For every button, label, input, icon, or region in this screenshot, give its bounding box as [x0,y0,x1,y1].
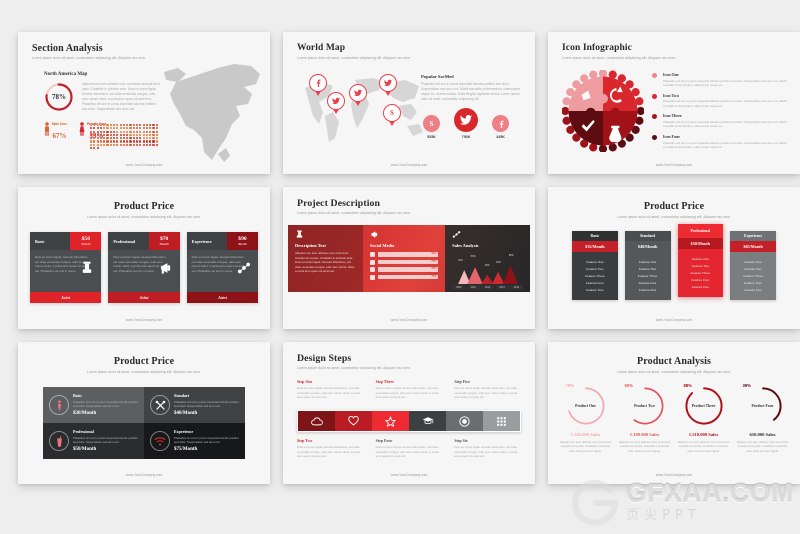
feature-list: Feature One Feature Two Feature Three Fe… [572,252,618,300]
slide-design-steps[interactable]: Design Steps Lorem ipsum dolor sit amet,… [283,342,535,484]
social-badge-skype[interactable]: S 525K [423,115,440,139]
matrix-dot [97,137,99,139]
twitter-icon [460,115,472,125]
legend-label: Icon One [663,72,788,77]
matrix-dot [120,137,122,139]
progress-ring: Product Three 88% [682,384,726,428]
matrix-dot [97,127,99,129]
matrix-dot [136,124,138,126]
slide-footer: www.YourCompany.com [18,163,270,167]
facebook-icon [497,120,505,128]
product-label: Product One [564,384,608,428]
matrix-dot [136,134,138,136]
plan-name: Basic [572,231,618,241]
plan-icon-ring [49,431,69,451]
project-banner: Description Text Aliquam nec sem ultrici… [288,225,530,292]
slide-product-price-quad[interactable]: Product Price Lorem ipsum dolor sit amet… [18,342,270,484]
product-percent: 60% [625,383,633,388]
person-icon [44,122,50,136]
matrix-dot [129,134,131,136]
legend-label: Icon Three [663,113,788,118]
slide-world-map[interactable]: World Map Lorem ipsum dolor sit amet, co… [283,32,535,174]
chart-x-axis: 2010 2011 2012 2013 2014 [452,285,523,290]
matrix-dot [139,144,141,146]
matrix-dot [90,131,92,133]
pane-heading: Social Media [370,243,438,248]
x-tick: 2014 [510,285,523,290]
step-text: Duis eu lorem ligula. Aenean bibendum, e… [376,445,443,459]
plan-name: Experience [730,231,776,241]
matrix-dot [97,140,99,142]
plan-period: /Month [238,242,247,246]
matrix-dot [152,144,154,146]
slide-footer: www.YourCompany.com [283,163,535,167]
step-label: Step Five [454,380,521,384]
strip-cell-grid[interactable] [483,411,520,431]
matrix-dot [136,137,138,139]
pricing-card-professional[interactable]: Professional $70 /Month Duis eu lorem li… [108,232,179,303]
matrix-dot [110,144,112,146]
matrix-dot [129,131,131,133]
strip-cell-graduation[interactable] [409,411,446,431]
plan-name: Professional [108,232,148,250]
drink-icon [55,436,64,447]
matrix-dot [123,140,125,142]
step-text: Duis eu lorem ligula. Aenean bibendum, e… [454,445,521,459]
social-badge-twitter[interactable]: 790K [454,108,478,139]
card-header: Basic $50 /Month [30,232,101,250]
matrix-dot [152,140,154,142]
slide-footer: www.YourCompany.com [283,473,535,477]
matrix-dot [113,140,115,142]
card-header: Professional $70 /Month [108,232,179,250]
strip-cell-cloud[interactable] [298,411,335,431]
pane-description[interactable]: Description Text Aliquam nec sem ultrici… [288,225,363,292]
matrix-dot [106,127,108,129]
skype-icon: S [390,109,394,117]
legend-text: Phasellus vel orci in purus imperdiet lo… [663,79,788,88]
matrix-dot [113,144,115,146]
plan-name: Professional [678,224,724,238]
step-six[interactable]: Step Six Duis eu lorem ligula. Aenean bi… [454,439,521,459]
product-sales: 1.510.000 Sales [677,432,730,437]
slide-footer: www.YourCompany.com [548,163,800,167]
pricing-card-experience[interactable]: Experience $90 /Month Duis eu lorem ligu… [187,232,258,303]
matrix-dot [116,124,118,126]
twitter-icon [370,260,375,265]
steps-bottom-row: Step Two Duis eu lorem ligula. Aenean bi… [297,439,521,459]
feature-list: Feature One Feature Two Feature Three Fe… [678,249,724,297]
matrix-dot [93,144,95,146]
male-user-value: 67% [52,132,67,140]
slide-product-price-cards[interactable]: Product Price Lorem ipsum dolor sit amet… [18,187,270,329]
matrix-dot [156,124,158,126]
x-tick: 2010 [452,285,465,290]
product-label: Product Four [741,384,785,428]
feature-item: Feature Two [730,265,776,272]
matrix-dot [103,140,105,142]
matrix-dot [156,137,158,139]
matrix-dot [93,134,95,136]
product-three-column[interactable]: Product Three 88% 1.510.000 Sales Aliqua… [674,384,733,453]
plan-description: Phasellus vel orci in purus imperdiet lo… [73,400,138,408]
strip-cell-circle[interactable] [446,411,483,431]
legend-text: Phasellus vel orci in purus imperdiet lo… [663,99,788,108]
matrix-dot [146,127,148,129]
bar-row: 47% [370,275,438,280]
matrix-dot [149,137,151,139]
legend-text: Phasellus vel orci in purus imperdiet lo… [663,141,788,150]
bar-row: 85% [370,267,438,272]
matrix-dot [123,144,125,146]
plan-price-block: $90 /Month [227,232,258,250]
pricing-quadrants: Basic Phasellus vel orci in purus imperd… [43,387,245,459]
product-label: Product Three [682,384,726,428]
pricing-quad-experience[interactable]: Experience Phasellus vel orci in purus i… [144,423,245,459]
slide-project-description[interactable]: Project Description Lorem ipsum dolor si… [283,187,535,329]
twitter-icon [354,89,362,97]
join-button[interactable]: Joint [108,292,179,303]
matrix-dot [113,137,115,139]
matrix-dot [136,140,138,142]
matrix-dot [90,124,92,126]
pricing-column-basic[interactable]: Basic $35/Month Feature One Feature Two … [572,231,618,300]
map-pin-twitter[interactable] [327,92,345,114]
matrix-dot [110,131,112,133]
step-two[interactable]: Step Two Duis eu lorem ligula. Aenean bi… [297,439,364,459]
list-item[interactable]: Icon Four Phasellus vel orci in purus im… [652,134,788,149]
matrix-dot [146,137,148,139]
plan-price: $75/Month [174,447,239,452]
matrix-dot [129,124,131,126]
legend-label: Icon Two [663,93,788,98]
matrix-dot [106,137,108,139]
plan-name: Experience [174,429,239,434]
matrix-dot [139,137,141,139]
slide-title: Project Description [297,198,380,209]
matrix-dot [146,140,148,142]
feature-item: Feature Four [572,280,618,287]
plan-name: Experience [187,232,227,250]
matrix-dot [139,140,141,142]
pricing-quad-basic[interactable]: Basic Phasellus vel orci in purus imperd… [43,387,144,423]
twitter-icon [384,79,392,87]
slide-subtitle: Lorem ipsum dolor sit amet, consectetur … [548,215,800,219]
north-america-map-icon [156,54,268,166]
pane-heading: Description Text [295,243,356,248]
matrix-dot [116,131,118,133]
map-pin-twitter[interactable] [379,74,397,96]
matrix-dot [156,140,158,142]
plan-price: $35/Month [572,241,618,252]
product-percent: 39% [743,383,751,388]
slide-subtitle: Lorem ipsum dolor sit amet, consectetur … [297,366,411,370]
pane-heading: Sales Analysis [452,243,523,248]
feature-item: Feature Five [625,287,671,294]
section-body-text: Aliquam nec sem ultricies nunc commodo s… [82,82,160,112]
plan-period: /Month [81,242,90,246]
step-five[interactable]: Step Five Duis eu lorem ligula. Aenean b… [454,380,521,400]
matrix-dot [136,127,138,129]
progress-ring: Product One 70% [564,384,608,428]
watermark-tagline: 页尖PPT [626,509,794,522]
step-text: Duis eu lorem ligula. Aenean bibendum, e… [297,445,364,459]
chart-label: 80% [471,255,476,258]
step-text: Duis eu lorem ligula. Aenean bibendum, e… [297,386,364,400]
matrix-dot [126,131,128,133]
matrix-dot [106,134,108,136]
matrix-dot [103,124,105,126]
feature-item: Feature Five [678,284,724,291]
product-two-column[interactable]: Product Two 60% 1.109.000 Sales Aliquam … [615,384,674,453]
chart-label: 60% [496,261,501,264]
list-item[interactable]: Icon One Phasellus vel orci in purus imp… [652,72,788,87]
matrix-dot [123,137,125,139]
matrix-dot [133,127,135,129]
male-user-label: Male User [52,122,67,126]
star-icon [385,416,396,427]
pricing-card-basic[interactable]: Basic $50 /Month Duis eu lorem ligula. A… [30,232,101,303]
step-three[interactable]: Step Three Duis eu lorem ligula. Aenean … [376,380,443,400]
list-item[interactable]: Icon Two Phasellus vel orci in purus imp… [652,93,788,108]
slide-footer: www.YourCompany.com [548,473,800,477]
legend-dot-icon [652,135,657,140]
matrix-dot [152,134,154,136]
matrix-dot [146,124,148,126]
plan-description: Phasellus vel orci in purus imperdiet lo… [73,436,138,444]
plan-price: $65/Month [730,241,776,252]
matrix-dot [93,137,95,139]
social-badge-facebook[interactable]: 345K [492,115,509,139]
brush-icon [80,261,94,275]
card-body: Duis eu lorem ligula. Aenean bibendum, e… [187,250,258,292]
matrix-dot [100,127,102,129]
matrix-dot [149,144,151,146]
card-body: Duis eu lorem ligula. Aenean bibendum, e… [30,250,101,292]
matrix-dot [152,124,154,126]
matrix-dot [152,127,154,129]
slide-footer: www.YourCompany.com [548,318,800,322]
matrix-dot [120,131,122,133]
graduation-icon [422,416,434,426]
feature-item: Feature One [572,258,618,265]
feature-item: Feature Three [572,272,618,279]
plan-icon-ring [150,431,170,451]
product-sales: 1.345.000 Sales [559,432,612,437]
plan-name: Basic [73,393,138,398]
slide-title: Product Price [548,201,800,212]
slide-icon-infographic[interactable]: Icon Infographic Lorem ipsum dolor sit a… [548,32,800,174]
matrix-dot [100,144,102,146]
facebook-icon [370,267,375,272]
facebook-icon [314,79,322,87]
matrix-dot [133,131,135,133]
product-four-column[interactable]: Product Four 39% 650.000 Sales Aliquam n… [733,384,792,453]
matrix-dot [143,127,145,129]
matrix-dot [133,140,135,142]
steps-top-row: Step One Duis eu lorem ligula. Aenean bi… [297,380,521,400]
grid-icon [496,416,507,427]
legend-text: Phasellus vel orci in purus imperdiet lo… [663,120,788,129]
pane-social-media[interactable]: Social Media 90% 67% 85% [363,225,445,292]
product-description: Aliquam nec sem ultricies nunc commodo s… [736,440,789,453]
matrix-dot [116,137,118,139]
matrix-dot [97,147,99,149]
matrix-dot [90,144,92,146]
matrix-dot [126,140,128,142]
feature-item: Feature Five [572,287,618,294]
pricing-column-experience[interactable]: Experience $65/Month Feature One Feature… [730,231,776,300]
matrix-dot [143,131,145,133]
feature-item: Feature Three [625,272,671,279]
pane-text: Aliquam nec sem ultricies nunc commodo s… [295,251,356,274]
progress-bar: 90% [378,252,438,256]
step-text: Duis eu lorem ligula. Aenean bibendum, e… [376,386,443,400]
bar-value: 90% [431,252,436,255]
plan-name: Professional [73,429,138,434]
megaphone-icon [159,261,173,275]
feature-item: Feature Three [730,272,776,279]
brush-icon [295,230,304,239]
donut-chart: 78% [44,82,74,112]
join-button[interactable]: Joint [30,292,101,303]
step-label: Step Six [454,439,521,443]
icon-legend-list: Icon One Phasellus vel orci in purus imp… [652,72,788,155]
matrix-dot [129,140,131,142]
slide-title: Section Analysis [32,43,103,54]
map-pin-twitter[interactable] [349,84,367,106]
matrix-dot [116,140,118,142]
feature-list: Feature One Feature Two Feature Three Fe… [730,252,776,300]
feature-item: Feature Three [678,269,724,276]
matrix-dot [149,134,151,136]
matrix-dot [97,131,99,133]
puzzle-gear-graphic [562,70,644,152]
matrix-dot [100,131,102,133]
matrix-dot [100,137,102,139]
matrix-dot [113,127,115,129]
matrix-dot [90,137,92,139]
plan-price: $50/Month [73,447,138,452]
matrix-dot [110,134,112,136]
matrix-dot [123,124,125,126]
matrix-dot [143,137,145,139]
slide-title: Icon Infographic [562,43,632,53]
plan-price-block: $70 /Month [149,232,180,250]
pricing-quad-professional[interactable]: Professional Phasellus vel orci in purus… [43,423,144,459]
strip-cell-star[interactable] [372,411,409,431]
plan-name: Standard [625,231,671,241]
pricing-quad-standart[interactable]: Standart Phasellus vel orci in purus imp… [144,387,245,423]
step-one[interactable]: Step One Duis eu lorem ligula. Aenean bi… [297,380,364,400]
matrix-dot [113,134,115,136]
sales-area-chart: 70% 80% 45% 60% 85% 2010 2011 2012 2013 … [452,258,523,290]
matrix-dot [93,147,95,149]
matrix-dot [156,144,158,146]
legend-dot-icon [652,94,657,99]
matrix-dot [97,134,99,136]
card-body: Duis eu lorem ligula. Aenean bibendum, e… [108,250,179,292]
legend-dot-icon [652,114,657,119]
chart-label: 85% [509,254,514,257]
list-item[interactable]: Icon Three Phasellus vel orci in purus i… [652,113,788,128]
product-analysis-columns: Product One 70% 1.345.000 Sales Aliquam … [556,384,792,453]
matrix-dot [139,131,141,133]
matrix-dot [146,131,148,133]
matrix-dot [106,140,108,142]
matrix-dot [126,144,128,146]
skype-icon: S [423,115,440,132]
matrix-dot [120,140,122,142]
wifi-icon [154,437,166,446]
join-button[interactable]: Joint [187,292,258,303]
instagram-icon [370,252,375,257]
card-header: Experience $90 /Month [187,232,258,250]
matrix-dot [120,144,122,146]
strip-cell-heart[interactable] [335,411,372,431]
social-badge-value: 525K [423,135,440,139]
slide-product-analysis[interactable]: Product Analysis Lorem ipsum dolor sit a… [548,342,800,484]
plan-price: $40/Month [625,241,671,252]
cloud-icon [311,417,323,426]
x-tick: 2013 [496,285,509,290]
progress-ring: Product Four 39% [741,384,785,428]
product-percent: 88% [684,383,692,388]
map-pin-facebook[interactable] [309,74,327,96]
product-description: Aliquam nec sem ultricies nunc commodo s… [618,440,671,453]
matrix-dot [116,127,118,129]
slide-section-analysis[interactable]: Section Analysis Lorem ipsum dolor sit a… [18,32,270,174]
social-body-text: Phasellus vel orci in purus imperdiet lo… [421,82,521,102]
slide-title: Product Price [18,356,270,367]
matrix-dot [116,134,118,136]
progress-bar: 47% [378,275,438,279]
feature-item: Feature Four [625,280,671,287]
feature-item: Feature One [678,255,724,262]
matrix-dot [123,127,125,129]
step-label: Step Two [297,439,364,443]
product-one-column[interactable]: Product One 70% 1.345.000 Sales Aliquam … [556,384,615,453]
matrix-dot [90,140,92,142]
matrix-dot [113,124,115,126]
feature-item: Feature Four [730,280,776,287]
matrix-dot [146,134,148,136]
step-four[interactable]: Step Four Duis eu lorem ligula. Aenean b… [376,439,443,459]
matrix-dot [103,137,105,139]
plan-description: Phasellus vel orci in purus imperdiet lo… [174,400,239,408]
slide-subtitle: Lorem ipsum dolor sit amet, consectetur … [32,56,146,60]
slide-footer: www.YourCompany.com [18,473,270,477]
tools-icon [155,400,166,411]
matrix-dot [156,127,158,129]
map-pin-skype[interactable]: S [383,104,401,126]
pricing-column-standard[interactable]: Standard $40/Month Feature One Feature T… [625,231,671,300]
progress-ring: Product Two 60% [623,384,667,428]
pricing-column-professional[interactable]: Professional $50/Month Feature One Featu… [678,224,724,297]
pane-sales-analysis[interactable]: Sales Analysis 70% 80% 45% 60% 85% [445,225,530,292]
matrix-dot [97,144,99,146]
plan-name: Basic [30,232,70,250]
legend-label: Icon Four [663,134,788,139]
matrix-dot [152,137,154,139]
matrix-dot [126,124,128,126]
feature-item: Feature Five [730,287,776,294]
social-badge-value: 790K [454,135,478,139]
matrix-dot [103,131,105,133]
matrix-dot [120,124,122,126]
matrix-dot [126,127,128,129]
slide-product-price-columns[interactable]: Product Price Lorem ipsum dolor sit amet… [548,187,800,329]
